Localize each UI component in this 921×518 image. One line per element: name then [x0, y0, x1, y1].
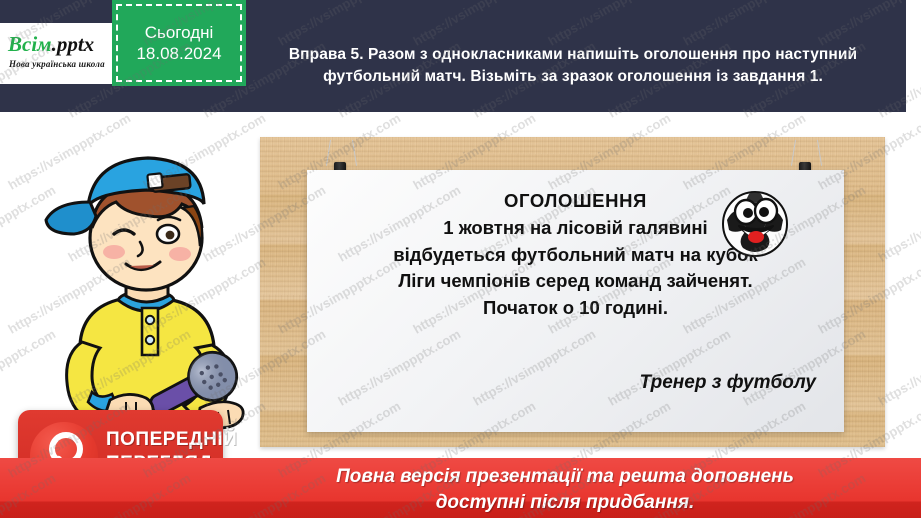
boy-with-microphone-illustration [22, 150, 272, 440]
announcement-line-4: Початок о 10 годині. [307, 295, 844, 322]
purchase-banner-text: Повна версія презентації та решта доповн… [230, 464, 900, 515]
logo-tagline: Нова українська школа [9, 59, 105, 69]
preview-badge-line-1: ПОПЕРЕДНІЙ [106, 428, 237, 452]
exercise-instruction: Вправа 5. Разом з однокласниками напишіт… [248, 44, 898, 89]
logo-name-green: Всім [8, 32, 52, 56]
logo-name-black: .pptx [52, 32, 95, 56]
purchase-banner: Повна версія презентації та решта доповн… [0, 458, 921, 518]
exercise-instruction-line-1: Вправа 5. Разом з однокласниками напишіт… [248, 44, 898, 66]
date-badge-inner: Сьогодні 18.08.2024 [116, 4, 242, 82]
smiling-soccer-ball-icon [719, 186, 791, 258]
purchase-banner-line-1: Повна версія презентації та решта доповн… [230, 464, 900, 490]
site-logo: Всім.pptx Нова українська школа [0, 23, 123, 84]
announcement-line-3: Ліги чемпіонів серед команд зайченят. [307, 268, 844, 295]
exercise-instruction-line-2: футбольний матч. Візьміть за зразок огол… [248, 66, 898, 88]
logo-wordmark: Всім.pptx [8, 32, 94, 57]
date-badge-value: 18.08.2024 [136, 45, 221, 62]
slide-canvas: Вправа 5. Разом з однокласниками напишіт… [0, 0, 921, 518]
purchase-banner-line-2: доступні після придбання. [230, 490, 900, 516]
date-badge: Сьогодні 18.08.2024 [112, 0, 246, 86]
announcement-signature: Тренер з футболу [639, 372, 816, 394]
date-badge-label: Сьогодні [145, 24, 214, 41]
